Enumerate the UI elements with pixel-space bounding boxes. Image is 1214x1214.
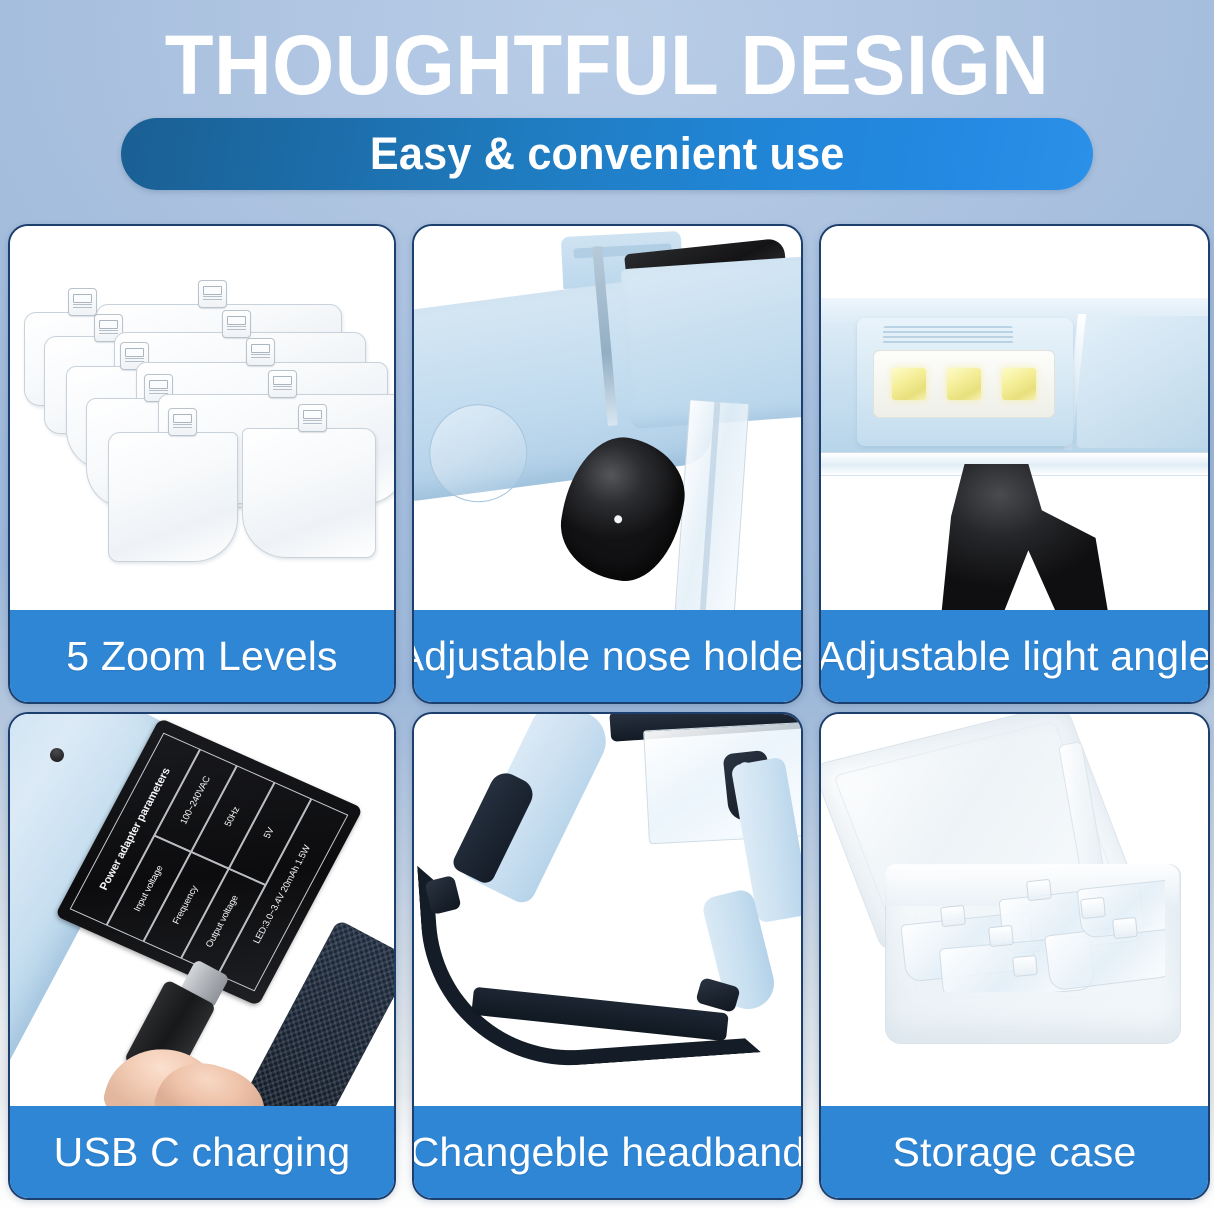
lens-stack-illustration — [10, 226, 394, 611]
lens-panel-front — [108, 432, 238, 562]
card-label-bar: 5 Zoom Levels — [10, 610, 394, 702]
led-chip-icon — [1002, 368, 1036, 400]
subtitle-pill: Easy & convenient use — [121, 118, 1093, 190]
stored-lens-clip-icon — [1012, 955, 1038, 977]
page-title: THOUGHTFUL DESIGN — [30, 22, 1183, 108]
product-photo-storage-case — [821, 714, 1208, 1106]
led-chip-icon — [947, 368, 981, 400]
led-housing-side — [1077, 316, 1208, 448]
feature-card-headband[interactable]: Changeble headband — [412, 712, 803, 1200]
subtitle-text: Easy & convenient use — [370, 130, 845, 178]
card-label-bar: USB C charging — [10, 1106, 394, 1198]
stored-lens-clip-icon — [1080, 897, 1106, 919]
stored-lens-clip-icon — [1026, 879, 1052, 901]
stored-lens-clip-icon — [1112, 917, 1138, 939]
feature-card-usb-c-charging[interactable]: Power adapter parameters Input voltage 1… — [8, 712, 396, 1200]
elastic-strap — [417, 843, 761, 1076]
lens-clip-icon — [298, 404, 327, 432]
product-photo-usb-c: Power adapter parameters Input voltage 1… — [10, 714, 394, 1106]
lens-panel-front — [242, 428, 376, 558]
card-label-bar: Changeble headband — [414, 1106, 801, 1198]
lens-clip-icon — [246, 338, 275, 366]
card-label: Adjustable light angle — [819, 634, 1210, 678]
feature-card-light-angle[interactable]: Adjustable light angle — [819, 224, 1210, 704]
led-diffuser-panel — [873, 350, 1055, 418]
feature-card-zoom-levels[interactable]: 5 Zoom Levels — [8, 224, 396, 704]
feature-card-storage-case[interactable]: Storage case — [819, 712, 1210, 1200]
card-label: USB C charging — [54, 1130, 351, 1174]
stored-lens-clip-icon — [940, 905, 966, 927]
card-label-bar: Adjustable light angle — [821, 610, 1208, 702]
led-chip-icon — [892, 368, 926, 400]
case-contents — [897, 866, 1165, 992]
lens-clip-icon — [168, 408, 197, 436]
product-photo-stacked-lenses — [10, 226, 394, 611]
card-label: Storage case — [893, 1130, 1137, 1174]
card-label: 5 Zoom Levels — [66, 634, 338, 678]
card-label-bar: Storage case — [821, 1106, 1208, 1198]
product-photo-led-module — [821, 226, 1208, 611]
lens-clip-icon — [222, 310, 251, 338]
lens-clip-icon — [268, 370, 297, 398]
product-photo-nose-holder — [414, 226, 801, 611]
led-vent-ridges — [883, 326, 1013, 344]
adjustable-black-arm — [941, 464, 1109, 611]
lens-clip-icon — [68, 288, 97, 316]
card-label-bar: Adjustable nose holder — [414, 610, 801, 702]
stored-lens-clip-icon — [988, 925, 1014, 947]
product-photo-headband — [414, 714, 801, 1106]
lens-clip-icon — [198, 280, 227, 308]
card-label: Changeble headband — [412, 1130, 803, 1174]
feature-card-nose-holder[interactable]: Adjustable nose holder — [412, 224, 803, 704]
infographic-page: THOUGHTFUL DESIGN Easy & convenient use — [0, 0, 1214, 1214]
card-label: Adjustable nose holder — [412, 634, 803, 678]
